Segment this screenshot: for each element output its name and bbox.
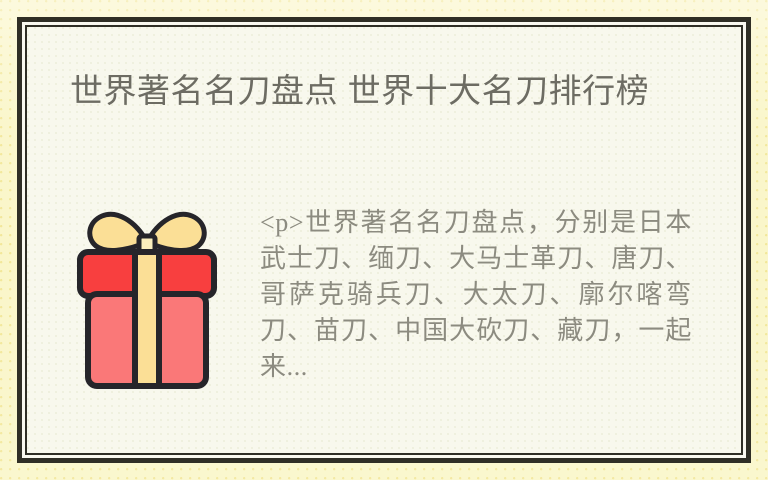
inner-frame-border: 世界著名名刀盘点 世界十大名刀排行榜: [25, 25, 743, 455]
gift-box-icon: [72, 204, 222, 394]
page-title: 世界著名名刀盘点 世界十大名刀排行榜: [70, 69, 710, 113]
outer-frame-border: 世界著名名刀盘点 世界十大名刀排行榜: [17, 17, 751, 463]
article-card[interactable]: 世界著名名刀盘点 世界十大名刀排行榜: [27, 27, 741, 453]
poster-root: 世界著名名刀盘点 世界十大名刀排行榜: [0, 0, 768, 480]
article-excerpt: <p>世界著名名刀盘点，分别是日本武士刀、缅刀、大马士革刀、唐刀、哥萨克骑兵刀、…: [260, 205, 692, 385]
box-ribbon-vertical: [135, 252, 159, 386]
gift-box-icon-graphic: [72, 204, 222, 394]
